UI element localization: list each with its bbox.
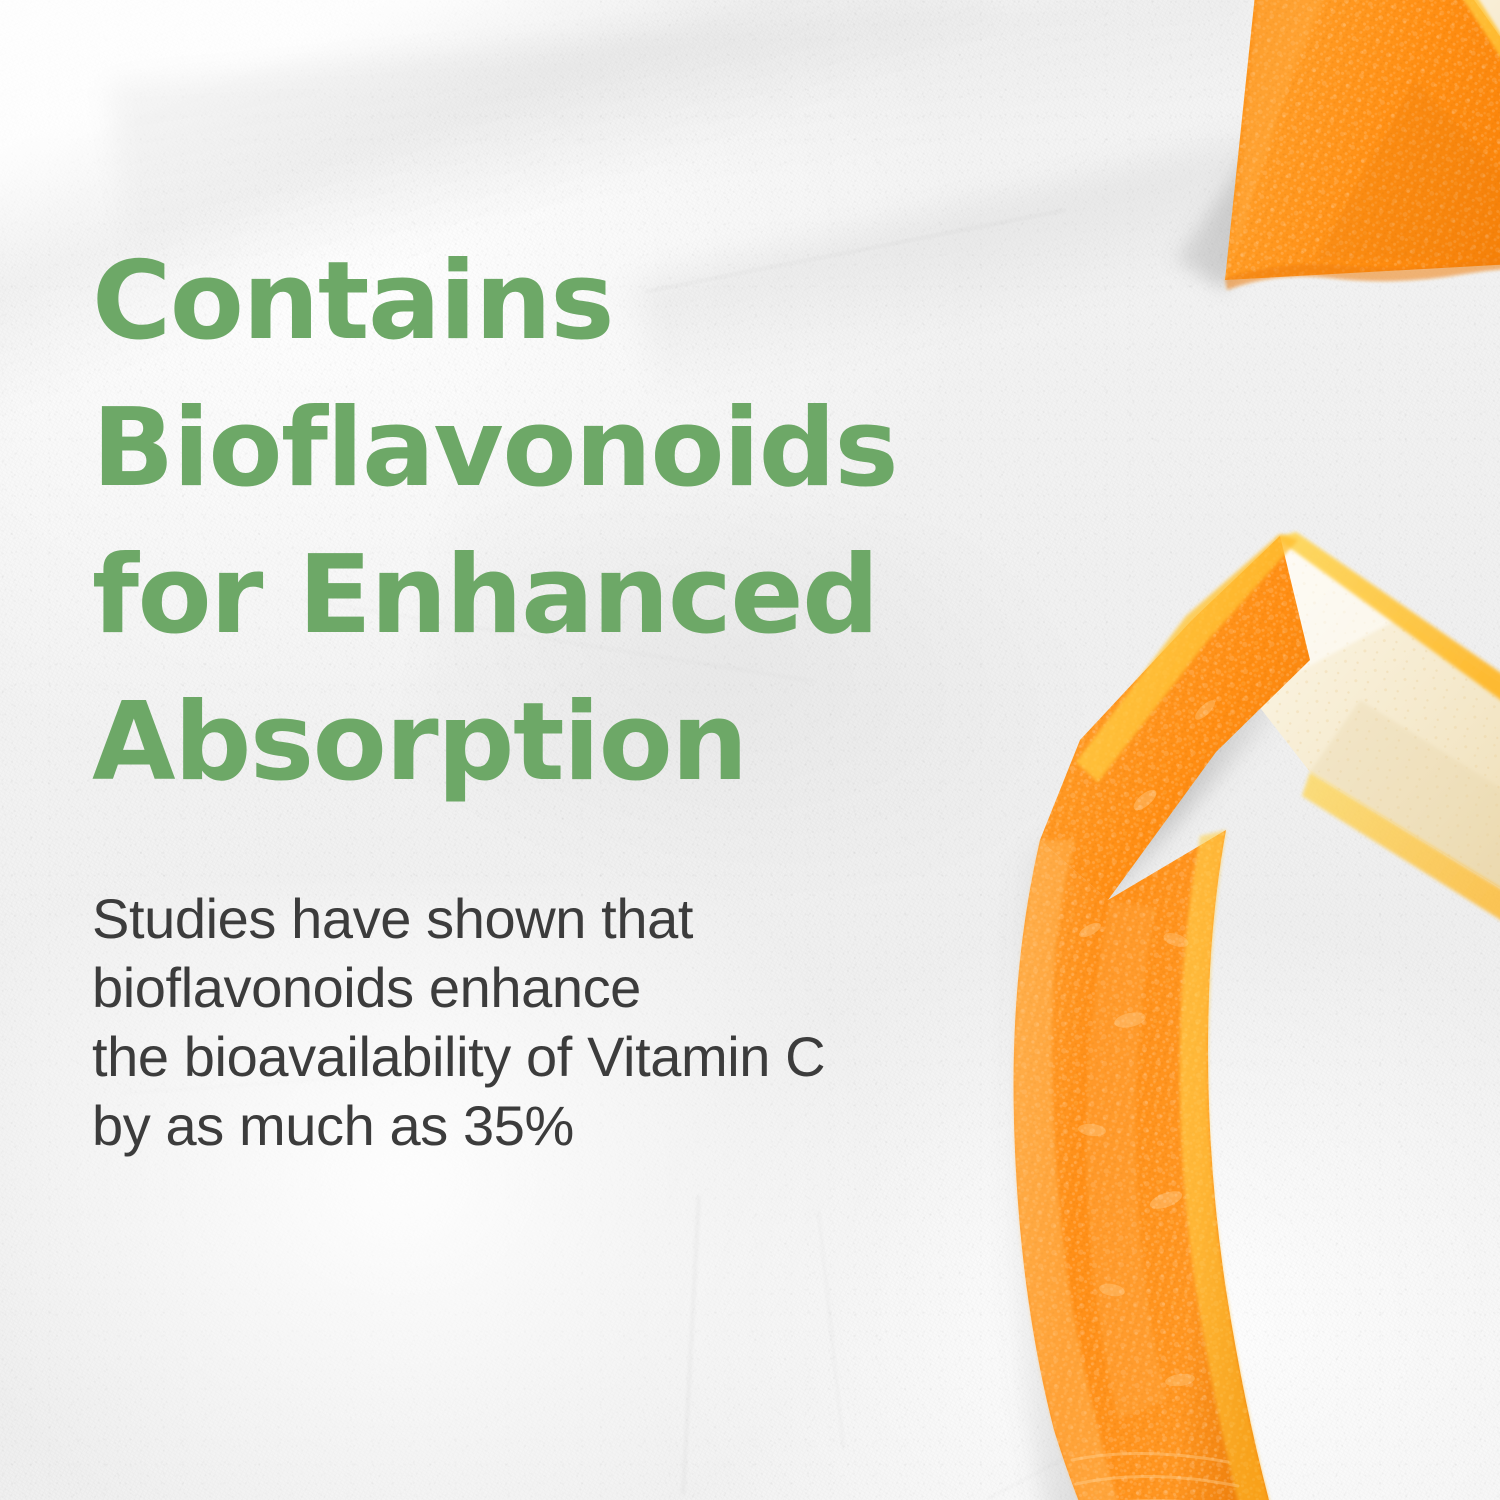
headline: Contains Bioflavonoids for Enhanced Abso… [92,228,1102,816]
infographic-canvas: Contains Bioflavonoids for Enhanced Abso… [0,0,1500,1500]
body-copy: Studies have shown that bioflavonoids en… [92,884,1052,1160]
